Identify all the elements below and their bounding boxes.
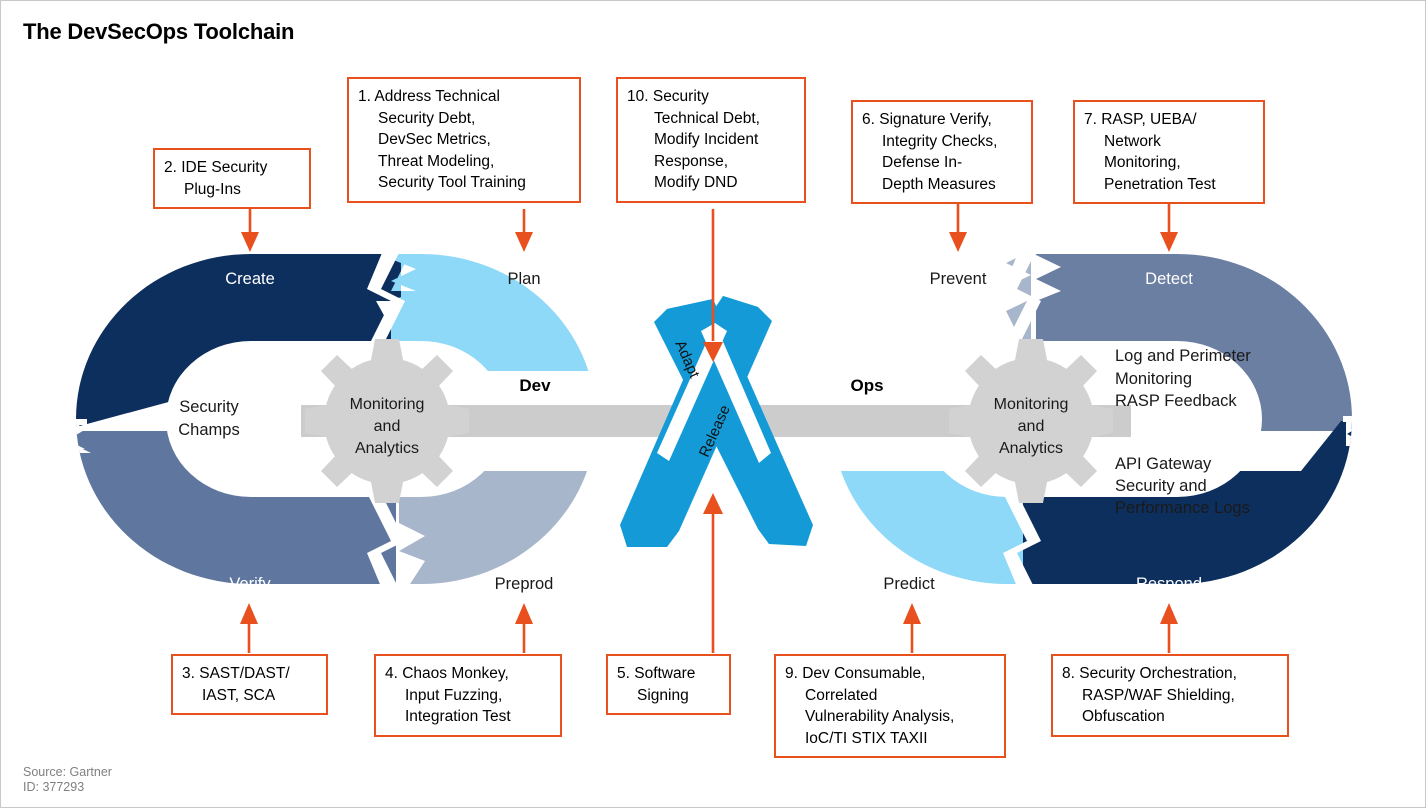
callout-5[interactable]: 5. Software Signing (606, 654, 731, 715)
callout-6-line-3: Defense In- (862, 152, 1023, 174)
source-attribution: Source: Gartner ID: 377293 (23, 765, 112, 795)
callout-7-line-1: 7. RASP, UEBA/ (1084, 109, 1255, 131)
segment-label-prevent: Prevent (930, 270, 987, 288)
callout-4-line-2: Input Fuzzing, (385, 685, 552, 707)
callout-1-line-1: 1. Address Technical (358, 86, 571, 108)
callout-10-line-5: Modify DND (627, 172, 796, 194)
callout-8[interactable]: 8. Security Orchestration, RASP/WAF Shie… (1051, 654, 1289, 737)
callout-4-line-1: 4. Chaos Monkey, (385, 663, 552, 685)
right-block2-line1: API Gateway (1115, 455, 1212, 473)
callout-6-line-4: Depth Measures (862, 174, 1023, 196)
callout-1-line-3: DevSec Metrics, (358, 129, 571, 151)
callout-10[interactable]: 10. Security Technical Debt, Modify Inci… (616, 77, 806, 203)
callout-3-line-1: 3. SAST/DAST/ (182, 663, 318, 685)
callout-9-line-4: IoC/TI STIX TAXII (785, 728, 996, 750)
callout-4-line-3: Integration Test (385, 706, 552, 728)
gear-label-line2: and (374, 418, 401, 435)
right-block2-line3: Performance Logs (1115, 499, 1250, 517)
security-champs-line2: Champs (178, 421, 239, 439)
callout-1-line-2: Security Debt, (358, 108, 571, 130)
callout-3[interactable]: 3. SAST/DAST/ IAST, SCA (171, 654, 328, 715)
callout-5-line-2: Signing (617, 685, 721, 707)
segment-plan[interactable] (391, 241, 701, 371)
gear-label-line1: Monitoring (350, 396, 425, 413)
gear-label-line3: Analytics (355, 440, 419, 457)
callout-7-line-3: Monitoring, (1084, 152, 1255, 174)
callout-1-line-5: Security Tool Training (358, 172, 571, 194)
callout-2-line-2: Plug-Ins (164, 179, 301, 201)
callout-6-line-1: 6. Signature Verify, (862, 109, 1023, 131)
callout-9-line-1: 9. Dev Consumable, (785, 663, 996, 685)
callout-9-line-3: Vulnerability Analysis, (785, 706, 996, 728)
callout-1[interactable]: 1. Address Technical Security Debt, DevS… (347, 77, 581, 203)
ops-label: Ops (850, 376, 883, 395)
security-champs-line1: Security (179, 398, 239, 416)
callout-7-line-2: Network (1084, 131, 1255, 153)
callout-10-line-4: Response, (627, 151, 796, 173)
segment-label-respond: Respond (1136, 575, 1202, 593)
segment-label-preprod: Preprod (495, 575, 554, 593)
callout-10-line-3: Modify Incident (627, 129, 796, 151)
right-block1-line3: RASP Feedback (1115, 392, 1237, 410)
right-gear-monitoring-analytics: Monitoring and Analytics (949, 339, 1113, 503)
segment-label-predict: Predict (883, 575, 935, 593)
callout-10-line-1: 10. Security (627, 86, 796, 108)
segment-label-plan: Plan (507, 270, 540, 288)
gear-label-line3-right: Analytics (999, 440, 1063, 457)
segment-label-verify: Verify (229, 575, 271, 593)
callout-8-line-1: 8. Security Orchestration, (1062, 663, 1279, 685)
dev-label: Dev (519, 376, 551, 395)
callout-2[interactable]: 2. IDE Security Plug-Ins (153, 148, 311, 209)
callout-7-line-4: Penetration Test (1084, 174, 1255, 196)
diagram-canvas: The DevSecOps Toolchain Create Plan (0, 0, 1426, 808)
right-block2-line2: Security and (1115, 477, 1207, 495)
right-block1-line1: Log and Perimeter (1115, 347, 1251, 365)
callout-8-line-3: Obfuscation (1062, 706, 1279, 728)
segment-label-create: Create (225, 270, 275, 288)
callout-2-line-1: 2. IDE Security (164, 157, 301, 179)
right-block1-line2: Monitoring (1115, 370, 1192, 388)
segment-label-detect: Detect (1145, 270, 1193, 288)
callout-6[interactable]: 6. Signature Verify, Integrity Checks, D… (851, 100, 1033, 204)
callout-4[interactable]: 4. Chaos Monkey, Input Fuzzing, Integrat… (374, 654, 562, 737)
callout-9[interactable]: 9. Dev Consumable, Correlated Vulnerabil… (774, 654, 1006, 758)
gear-label-line2-right: and (1018, 418, 1045, 435)
callout-7[interactable]: 7. RASP, UEBA/ Network Monitoring, Penet… (1073, 100, 1265, 204)
left-gear-monitoring-analytics: Monitoring and Analytics (305, 339, 469, 503)
callout-9-line-2: Correlated (785, 685, 996, 707)
callout-3-line-2: IAST, SCA (182, 685, 318, 707)
callout-10-line-2: Technical Debt, (627, 108, 796, 130)
callout-1-line-4: Threat Modeling, (358, 151, 571, 173)
gear-label-line1-right: Monitoring (994, 396, 1069, 413)
callout-5-line-1: 5. Software (617, 663, 721, 685)
callout-8-line-2: RASP/WAF Shielding, (1062, 685, 1279, 707)
segment-prevent[interactable] (727, 241, 1031, 361)
callout-6-line-2: Integrity Checks, (862, 131, 1023, 153)
